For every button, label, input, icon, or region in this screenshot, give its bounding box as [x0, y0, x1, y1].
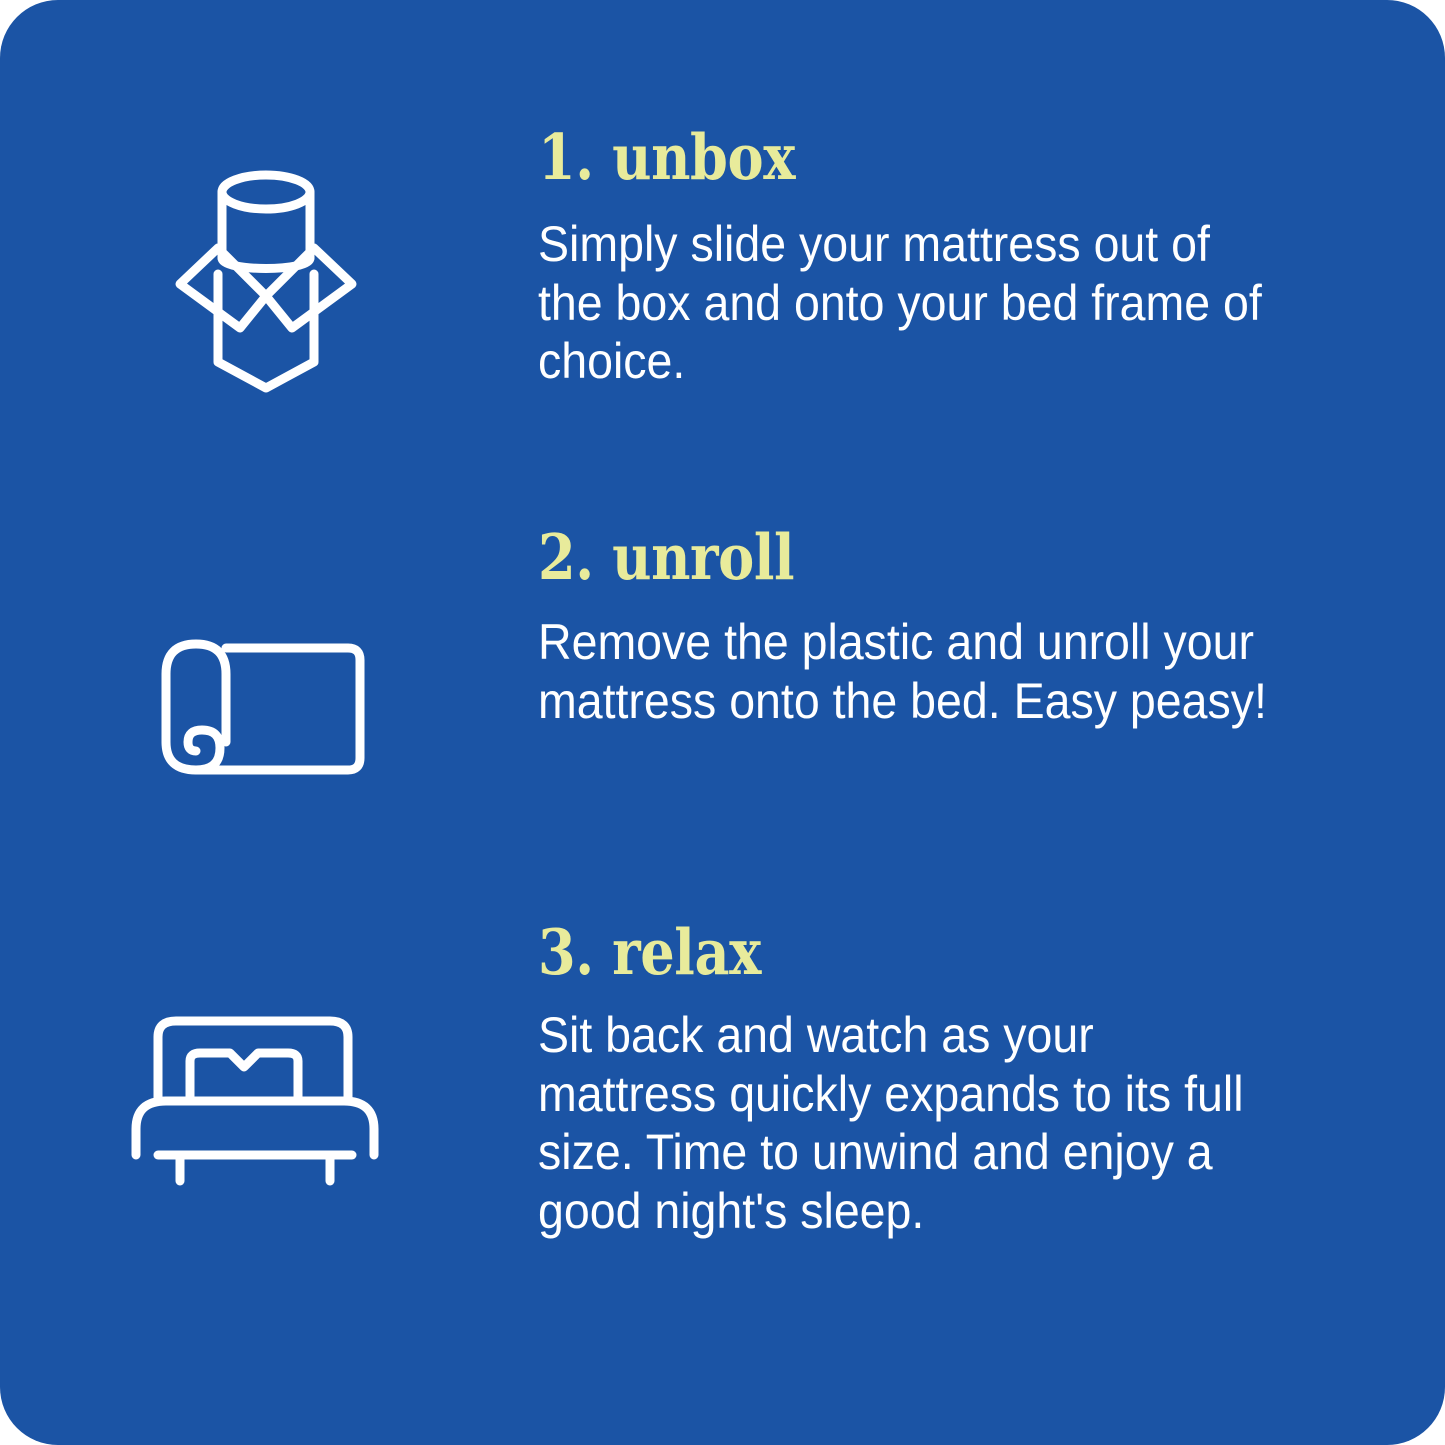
step-body-relax: Sit back and watch as your mattress quic… [538, 1006, 1279, 1240]
bed-with-pillows-icon [122, 1005, 388, 1190]
step-icon-container-unroll [0, 526, 538, 795]
instructions-card: 1. unbox Simply slide your mattress out … [0, 0, 1445, 1445]
step-heading-unroll: 2. unroll [538, 526, 1223, 589]
step-text-container-unroll: 2. unroll Remove the plastic and unroll … [538, 526, 1445, 730]
step-heading-unbox: 1. unbox [538, 126, 1223, 189]
step-text-container-relax: 3. relax Sit back and watch as your matt… [538, 921, 1445, 1240]
box-with-rolled-mattress-icon [166, 162, 366, 398]
step-item-unbox: 1. unbox Simply slide your mattress out … [0, 126, 1445, 526]
step-body-unroll: Remove the plastic and unroll your mattr… [538, 613, 1279, 730]
step-heading-relax: 3. relax [538, 921, 1223, 984]
step-icon-container-relax [0, 921, 538, 1190]
step-icon-container-unbox [0, 126, 538, 398]
step-body-unbox: Simply slide your mattress out of the bo… [538, 215, 1279, 391]
rolled-mattress-unrolling-icon [150, 630, 376, 795]
step-text-container-unbox: 1. unbox Simply slide your mattress out … [538, 126, 1445, 391]
step-item-relax: 3. relax Sit back and watch as your matt… [0, 921, 1445, 1271]
steps-list: 1. unbox Simply slide your mattress out … [0, 0, 1445, 1445]
step-item-unroll: 2. unroll Remove the plastic and unroll … [0, 526, 1445, 921]
